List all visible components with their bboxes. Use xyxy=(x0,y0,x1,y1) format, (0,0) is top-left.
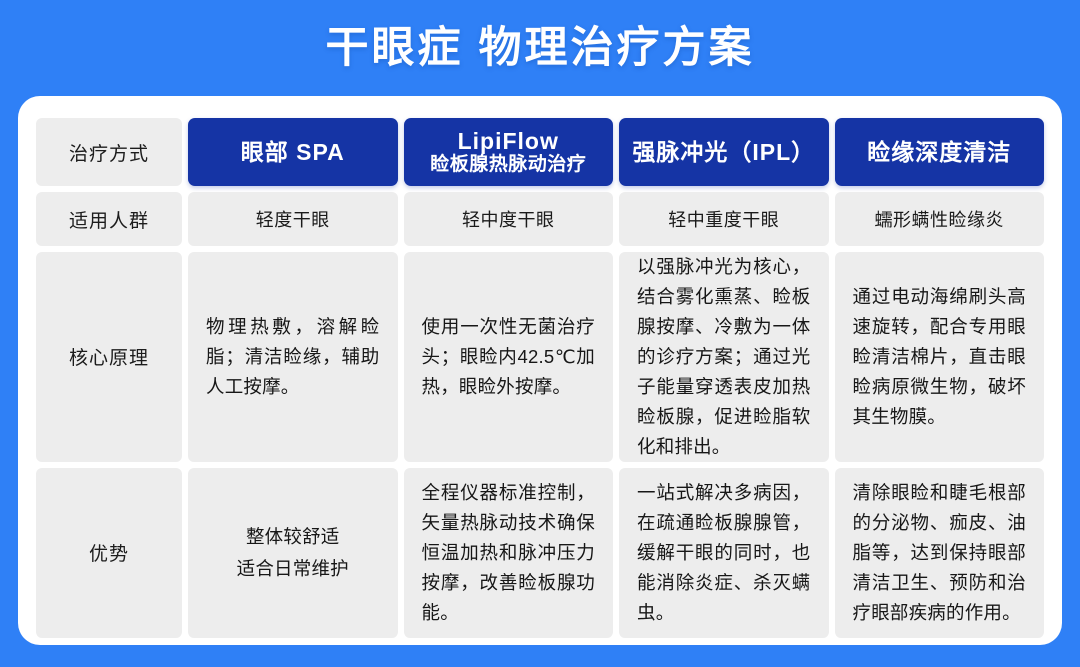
cell-text: 全程仪器标准控制，矢量热脉动技术确保恒温加热和脉冲压力按摩，改善睑板腺功能。 xyxy=(422,478,596,628)
row-label-treatment-type: 治疗方式 xyxy=(36,118,182,186)
page-title: 干眼症 物理治疗方案 xyxy=(326,27,755,70)
row-label-principle: 核心原理 xyxy=(36,252,182,462)
cell-text: 通过电动海绵刷头高速旋转，配合专用眼睑清洁棉片，直击眼睑病原微生物，破坏其生物膜… xyxy=(853,282,1027,432)
row-label-audience: 适用人群 xyxy=(36,192,182,246)
column-header-title: 强脉冲光（IPL） xyxy=(625,139,823,165)
cell-audience-lipiflow: 轻中度干眼 xyxy=(404,192,614,246)
column-header-title: LipiFlow xyxy=(410,128,608,154)
cell-text: 清除眼睑和睫毛根部的分泌物、痂皮、油脂等，达到保持眼部清洁卫生、预防和治疗眼部疾… xyxy=(853,478,1027,628)
cell-text: 整体较舒适 适合日常维护 xyxy=(237,521,349,584)
table-row-audience: 适用人群 轻度干眼 轻中度干眼 轻中重度干眼 蠕形螨性睑缘炎 xyxy=(36,192,1044,246)
column-header-ipl[interactable]: 强脉冲光（IPL） xyxy=(619,118,829,186)
column-header-eye-spa[interactable]: 眼部 SPA xyxy=(188,118,398,186)
table-row-advantage: 优势 整体较舒适 适合日常维护 全程仪器标准控制，矢量热脉动技术确保恒温加热和脉… xyxy=(36,468,1044,638)
content-card: 治疗方式 眼部 SPA LipiFlow 睑板腺热脉动治疗 强脉冲光（IPL） xyxy=(18,96,1062,645)
row-label-advantage: 优势 xyxy=(36,468,182,638)
cell-advantage-ipl: 一站式解决多病因，在疏通睑板腺腺管，缓解干眼的同时，也能消除炎症、杀灭螨虫。 xyxy=(619,468,829,638)
poster-root: 干眼症 物理治疗方案 治疗方式 眼部 SPA LipiFlow 睑板腺热脉动治疗 xyxy=(0,0,1080,667)
comparison-table: 治疗方式 眼部 SPA LipiFlow 睑板腺热脉动治疗 强脉冲光（IPL） xyxy=(36,118,1044,625)
table-row-treatment-type: 治疗方式 眼部 SPA LipiFlow 睑板腺热脉动治疗 强脉冲光（IPL） xyxy=(36,118,1044,186)
cell-principle-eye-spa: 物理热敷，溶解睑脂；清洁睑缘，辅助人工按摩。 xyxy=(188,252,398,462)
table-row-principle: 核心原理 物理热敷，溶解睑脂；清洁睑缘，辅助人工按摩。 使用一次性无菌治疗头；眼… xyxy=(36,252,1044,462)
cell-audience-ipl: 轻中重度干眼 xyxy=(619,192,829,246)
cell-principle-lipiflow: 使用一次性无菌治疗头；眼睑内42.5℃加热，眼睑外按摩。 xyxy=(404,252,614,462)
cell-text: 物理热敷，溶解睑脂；清洁睑缘，辅助人工按摩。 xyxy=(206,312,380,402)
cell-advantage-lipiflow: 全程仪器标准控制，矢量热脉动技术确保恒温加热和脉冲压力按摩，改善睑板腺功能。 xyxy=(404,468,614,638)
cell-audience-eye-spa: 轻度干眼 xyxy=(188,192,398,246)
cell-text: 以强脉冲光为核心，结合雾化熏蒸、睑板腺按摩、冷敷为一体的诊疗方案；通过光子能量穿… xyxy=(637,252,811,462)
column-header-lid-margin-cleaning[interactable]: 睑缘深度清洁 xyxy=(835,118,1045,186)
column-header-title: 眼部 SPA xyxy=(194,139,392,165)
cell-text: 一站式解决多病因，在疏通睑板腺腺管，缓解干眼的同时，也能消除炎症、杀灭螨虫。 xyxy=(637,478,811,628)
column-header-title: 睑缘深度清洁 xyxy=(841,139,1039,165)
column-header-subtitle: 睑板腺热脉动治疗 xyxy=(410,154,608,176)
cell-audience-lid-margin-cleaning: 蠕形螨性睑缘炎 xyxy=(835,192,1045,246)
column-header-lipiflow[interactable]: LipiFlow 睑板腺热脉动治疗 xyxy=(404,118,614,186)
title-bar: 干眼症 物理治疗方案 xyxy=(0,0,1080,96)
cell-principle-ipl: 以强脉冲光为核心，结合雾化熏蒸、睑板腺按摩、冷敷为一体的诊疗方案；通过光子能量穿… xyxy=(619,252,829,462)
cell-advantage-lid-margin-cleaning: 清除眼睑和睫毛根部的分泌物、痂皮、油脂等，达到保持眼部清洁卫生、预防和治疗眼部疾… xyxy=(835,468,1045,638)
cell-principle-lid-margin-cleaning: 通过电动海绵刷头高速旋转，配合专用眼睑清洁棉片，直击眼睑病原微生物，破坏其生物膜… xyxy=(835,252,1045,462)
cell-advantage-eye-spa: 整体较舒适 适合日常维护 xyxy=(188,468,398,638)
cell-text: 使用一次性无菌治疗头；眼睑内42.5℃加热，眼睑外按摩。 xyxy=(422,312,596,402)
